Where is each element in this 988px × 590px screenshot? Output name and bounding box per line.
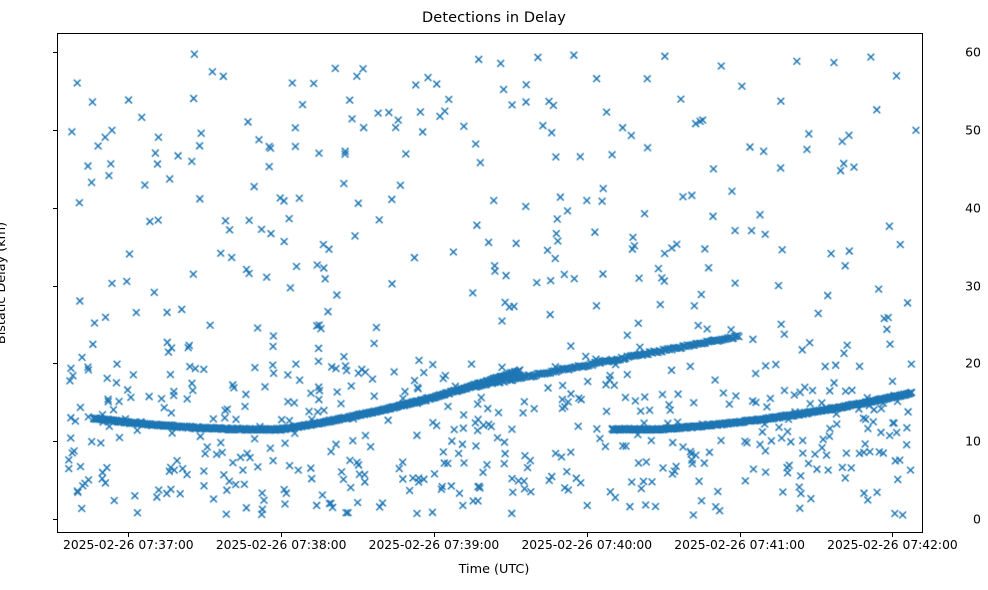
x-axis-tick-label: 2025-02-26 07:37:00: [63, 538, 194, 552]
x-axis-label: Time (UTC): [0, 562, 988, 577]
y-axis-tick-label: 10: [931, 434, 988, 449]
y-axis-tick-label: 20: [931, 356, 988, 371]
x-axis-tick-label: 2025-02-26 07:40:00: [521, 538, 652, 552]
x-axis-tick-label: 2025-02-26 07:38:00: [216, 538, 347, 552]
x-axis-tick-label: 2025-02-26 07:42:00: [827, 538, 958, 552]
y-axis-tick-mark: [53, 208, 57, 209]
x-axis-tick-mark: [892, 533, 893, 537]
x-axis-tick-mark: [434, 533, 435, 537]
page-title: Detections in Delay: [0, 10, 988, 26]
x-axis-tick-mark: [587, 533, 588, 537]
y-axis-tick-label: 60: [931, 45, 988, 60]
y-axis-tick-mark: [53, 363, 57, 364]
y-axis-tick-label: 40: [931, 200, 988, 215]
y-axis-tick-mark: [53, 286, 57, 287]
y-axis-tick-mark: [53, 130, 57, 131]
x-axis-tick-mark: [281, 533, 282, 537]
scatter-points-layer: [58, 34, 922, 532]
matplotlib-figure: Detections in Delay Bistatic Delay (km) …: [0, 0, 988, 590]
x-axis-tick-label: 2025-02-26 07:41:00: [674, 538, 805, 552]
y-axis-tick-mark: [53, 441, 57, 442]
y-axis-tick-label: 0: [931, 512, 988, 527]
y-axis-tick-label: 30: [931, 278, 988, 293]
x-axis-tick-mark: [128, 533, 129, 537]
plot-area: [57, 33, 923, 533]
y-axis-tick-mark: [53, 52, 57, 53]
y-axis-tick-label: 50: [931, 123, 988, 138]
y-axis-tick-mark: [53, 519, 57, 520]
y-axis-label: Bistatic Delay (km): [0, 222, 9, 344]
x-axis-tick-label: 2025-02-26 07:39:00: [369, 538, 500, 552]
x-axis-tick-mark: [740, 533, 741, 537]
